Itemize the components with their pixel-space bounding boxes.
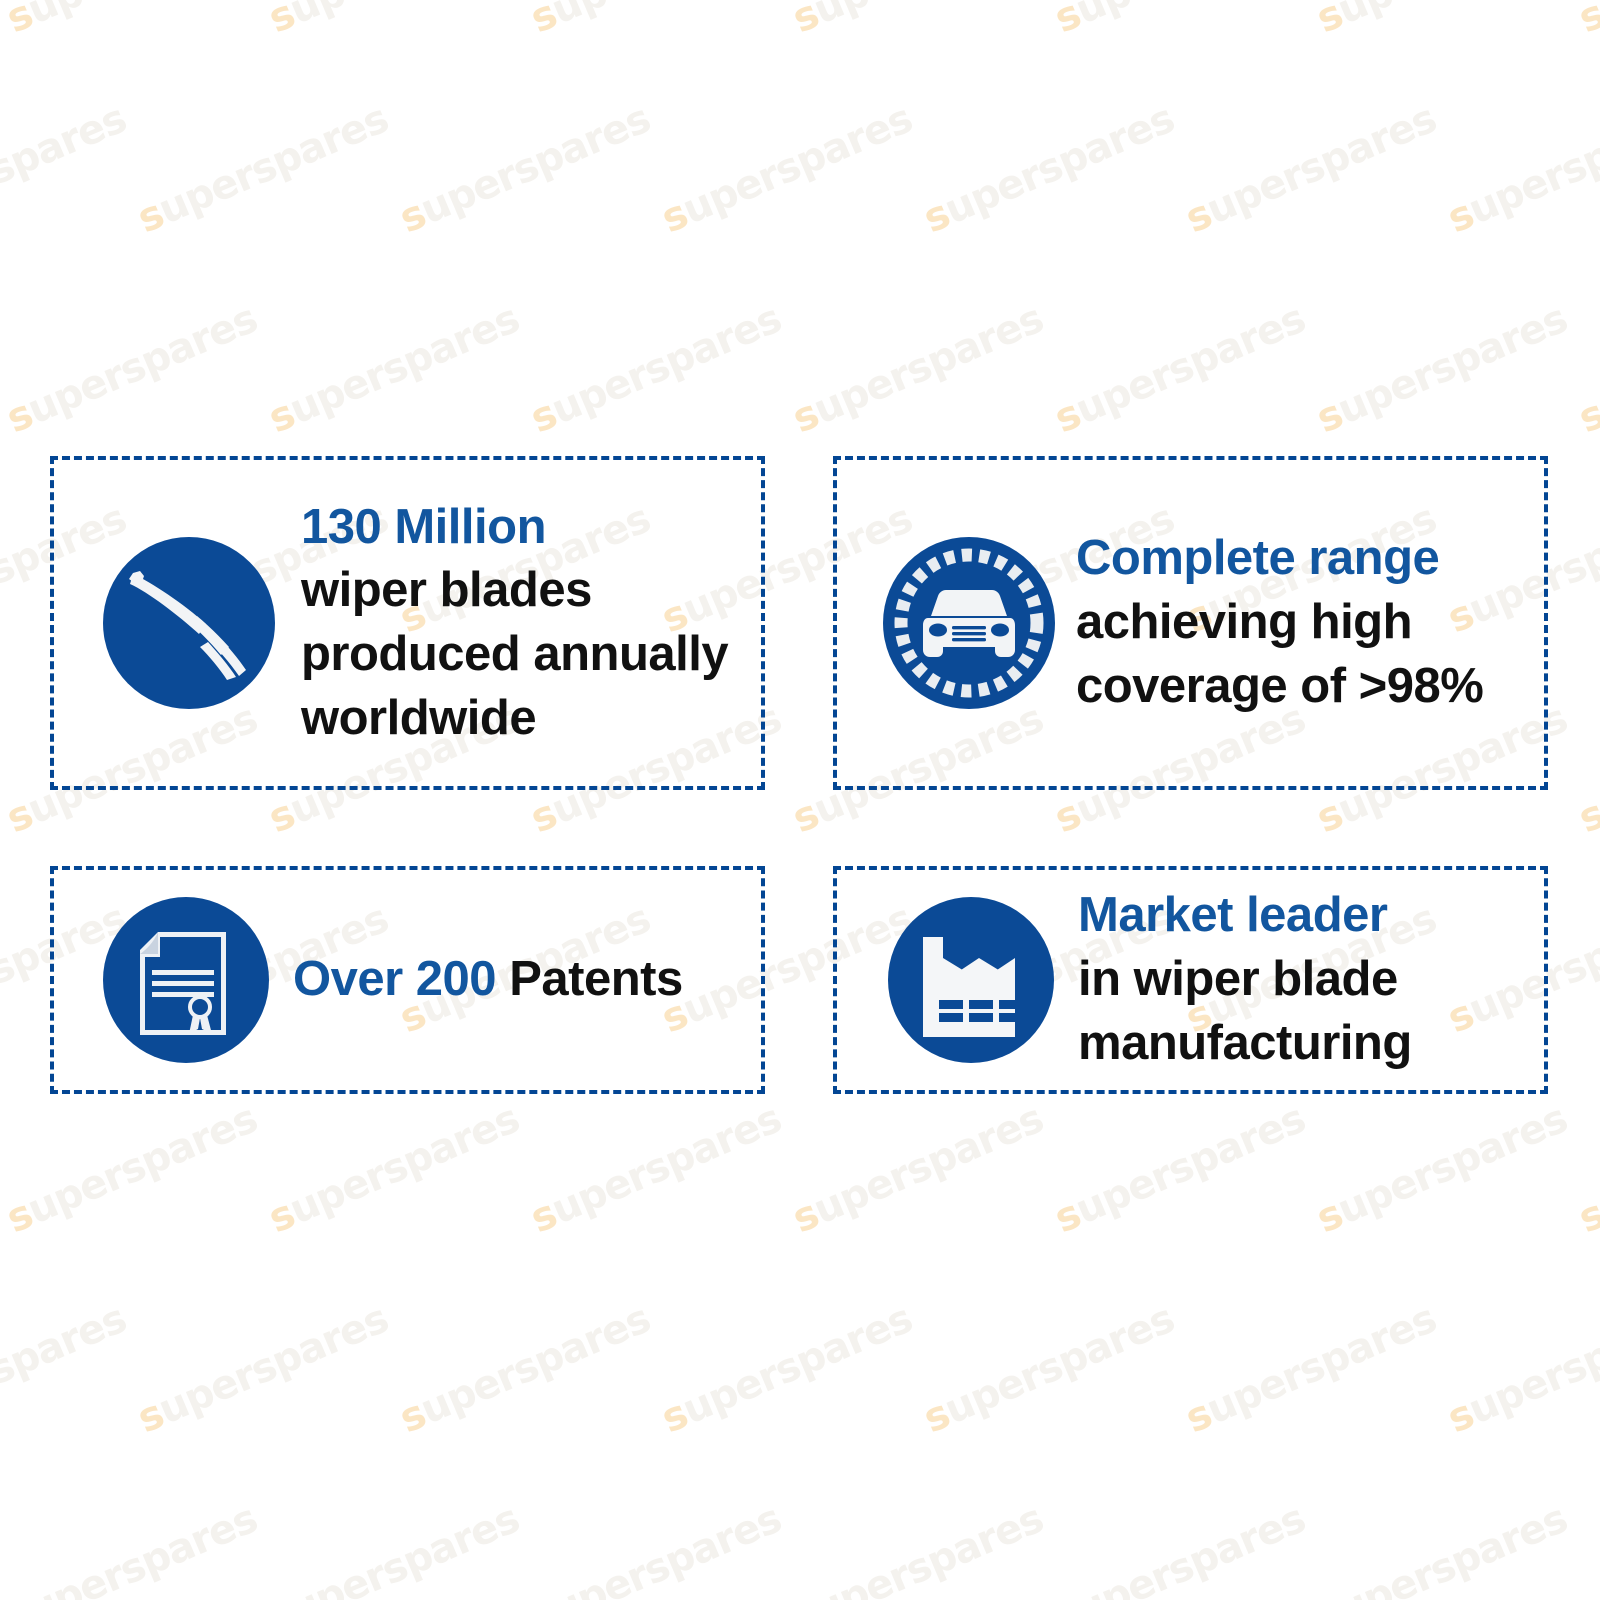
watermark-accent-letter: s [1310, 1191, 1349, 1242]
fact-card-icon-container [837, 890, 1078, 1070]
watermark-body-letters: uperspares [1200, 96, 1443, 234]
watermark-text: superspares [655, 96, 919, 243]
watermark-body-letters: uperspares [1331, 1496, 1574, 1600]
watermark-body-letters: uperspares [414, 96, 657, 234]
fact-card-line-1: in wiper blade [1078, 952, 1398, 1006]
fact-card-complete-range-coverage[interactable]: Complete range achieving high coverage o… [833, 456, 1548, 790]
fact-card-highlight: Over 200 [293, 952, 496, 1006]
watermark-text: superspares [0, 296, 2, 443]
watermark-text: superspares [786, 0, 1050, 42]
watermark-text: superspares [524, 1496, 788, 1600]
watermark-body-letters: uperspares [807, 1496, 1050, 1600]
watermark-text: superspares [524, 0, 788, 42]
watermark-accent-letter: s [131, 1391, 170, 1442]
watermark-body-letters: uperspares [21, 1496, 264, 1600]
fact-card-highlight: Complete range [1076, 531, 1439, 585]
fact-card-line-2: produced annually [301, 627, 728, 681]
watermark-text: superspares [131, 96, 395, 243]
fact-card-patents-count[interactable]: Over 200 Patents [50, 866, 765, 1094]
fact-card-highlight: 130 Million [301, 500, 546, 554]
watermark-accent-letter: s [1179, 191, 1218, 242]
watermark-text: superspares [0, 1096, 2, 1243]
watermark-body-letters: uperspares [1593, 0, 1600, 33]
watermark-accent-letter: s [262, 0, 301, 42]
watermark-text: superspares [1572, 696, 1600, 843]
watermark-accent-letter: s [1572, 391, 1600, 442]
watermark-accent-letter: s [1048, 1591, 1087, 1600]
watermark-accent-letter: s [0, 1191, 39, 1242]
watermark-text: superspares [1441, 96, 1600, 243]
watermark-text: superspares [262, 1096, 526, 1243]
watermark-text: superspares [1048, 1496, 1312, 1600]
watermark-body-letters: uperspares [1593, 296, 1600, 434]
watermark-body-letters: uperspares [1069, 296, 1312, 434]
watermark-accent-letter: s [1179, 1391, 1218, 1442]
watermark-body-letters: uperspares [1069, 1496, 1312, 1600]
watermark-body-letters: uperspares [545, 0, 788, 33]
watermark-accent-letter: s [524, 391, 563, 442]
watermark-accent-letter: s [1048, 391, 1087, 442]
watermark-accent-letter: s [1048, 0, 1087, 42]
watermark-text: superspares [1572, 296, 1600, 443]
watermark-accent-letter: s [524, 1191, 563, 1242]
car-in-tyre-ring-icon [876, 530, 1062, 716]
watermark-text: superspares [1310, 296, 1574, 443]
watermark-text: superspares [786, 1496, 1050, 1600]
watermark-body-letters: uperspares [0, 1496, 2, 1600]
watermark-text: superspares [524, 1096, 788, 1243]
fact-card-icon-container [54, 890, 293, 1070]
watermark-body-letters: uperspares [676, 96, 919, 234]
watermark-body-letters: uperspares [1200, 1296, 1443, 1434]
watermark-accent-letter: s [786, 1591, 825, 1600]
fact-card-grid: 130 Million wiper blades produced annual… [50, 456, 1548, 1094]
watermark-text: superspares [1310, 0, 1574, 42]
watermark-body-letters: uperspares [545, 1096, 788, 1234]
fact-card-market-leader-manufacturing[interactable]: Market leader in wiper blade manufacturi… [833, 866, 1548, 1094]
watermark-accent-letter: s [393, 191, 432, 242]
watermark-body-letters: uperspares [1462, 96, 1600, 234]
watermark-accent-letter: s [1572, 0, 1600, 42]
watermark-body-letters: uperspares [545, 296, 788, 434]
watermark-body-letters: uperspares [152, 96, 395, 234]
watermark-text: superspares [262, 1496, 526, 1600]
watermark-body-letters: uperspares [1069, 0, 1312, 33]
watermark-accent-letter: s [655, 191, 694, 242]
watermark-accent-letter: s [786, 0, 825, 42]
fact-card-line-2: coverage of >98% [1076, 659, 1483, 713]
watermark-accent-letter: s [1048, 1191, 1087, 1242]
watermark-text: superspares [0, 1496, 2, 1600]
watermark-text: superspares [1572, 1096, 1600, 1243]
watermark-text: superspares [524, 296, 788, 443]
watermark-text: superspares [1441, 1296, 1600, 1443]
watermark-accent-letter: s [655, 1391, 694, 1442]
watermark-accent-letter: s [262, 391, 301, 442]
watermark-body-letters: uperspares [0, 696, 2, 834]
factory-icon [881, 890, 1061, 1070]
watermark-accent-letter: s [786, 391, 825, 442]
fact-card-text: Market leader in wiper blade manufacturi… [1078, 884, 1544, 1075]
watermark-body-letters: uperspares [1593, 1096, 1600, 1234]
watermark-text: superspares [1048, 1096, 1312, 1243]
watermark-body-letters: uperspares [1069, 1096, 1312, 1234]
watermark-accent-letter: s [1441, 191, 1480, 242]
fact-card-text: Complete range achieving high coverage o… [1076, 527, 1544, 718]
watermark-text: superspares [0, 0, 2, 42]
watermark-body-letters: uperspares [807, 0, 1050, 33]
fact-card-text: Over 200 Patents [293, 948, 761, 1012]
watermark-accent-letter: s [524, 1591, 563, 1600]
watermark-text: superspares [1048, 0, 1312, 42]
watermark-body-letters: uperspares [0, 1296, 133, 1434]
watermark-body-letters: uperspares [1462, 1296, 1600, 1434]
watermark-body-letters: uperspares [0, 0, 2, 33]
certificate-icon [96, 890, 276, 1070]
watermark-accent-letter: s [1310, 1591, 1349, 1600]
watermark-text: superspares [1572, 0, 1600, 42]
watermark-text: superspares [0, 1496, 264, 1600]
watermark-text: superspares [0, 696, 2, 843]
watermark-body-letters: uperspares [1593, 696, 1600, 834]
watermark-text: superspares [786, 1096, 1050, 1243]
watermark-body-letters: uperspares [545, 1496, 788, 1600]
watermark-body-letters: uperspares [0, 96, 133, 234]
watermark-body-letters: uperspares [1331, 1096, 1574, 1234]
watermark-text: superspares [1310, 1496, 1574, 1600]
watermark-text: superspares [262, 0, 526, 42]
watermark-text: superspares [1310, 1096, 1574, 1243]
watermark-body-letters: uperspares [414, 1296, 657, 1434]
watermark-accent-letter: s [1572, 791, 1600, 842]
watermark-accent-letter: s [262, 1591, 301, 1600]
watermark-text: superspares [917, 1296, 1181, 1443]
watermark-body-letters: uperspares [283, 1096, 526, 1234]
watermark-text: superspares [0, 1296, 133, 1443]
watermark-body-letters: uperspares [676, 1296, 919, 1434]
watermark-text: superspares [0, 96, 133, 243]
watermark-body-letters: uperspares [0, 296, 2, 434]
watermark-accent-letter: s [0, 0, 39, 42]
fact-card-line-1: achieving high [1076, 595, 1412, 649]
fact-card-line-1: Patents [509, 952, 683, 1006]
fact-card-text: 130 Million wiper blades produced annual… [301, 496, 761, 751]
watermark-accent-letter: s [1310, 391, 1349, 442]
watermark-text: superspares [1572, 1496, 1600, 1600]
watermark-accent-letter: s [393, 1391, 432, 1442]
watermark-text: superspares [786, 296, 1050, 443]
fact-card-icon-container [54, 530, 301, 716]
watermark-accent-letter: s [0, 1591, 39, 1600]
fact-card-icon-container [837, 530, 1076, 716]
watermark-body-letters: uperspares [807, 1096, 1050, 1234]
watermark-text: superspares [393, 1296, 657, 1443]
watermark-accent-letter: s [917, 1391, 956, 1442]
watermark-body-letters: uperspares [1331, 296, 1574, 434]
watermark-body-letters: uperspares [938, 1296, 1181, 1434]
watermark-body-letters: uperspares [21, 296, 264, 434]
watermark-accent-letter: s [1572, 1191, 1600, 1242]
fact-card-line-2: manufacturing [1078, 1016, 1412, 1070]
watermark-text: superspares [262, 296, 526, 443]
watermark-body-letters: uperspares [1331, 0, 1574, 33]
watermark-text: superspares [655, 1296, 919, 1443]
fact-card-highlight: Market leader [1078, 888, 1387, 942]
watermark-text: superspares [0, 1096, 264, 1243]
watermark-body-letters: uperspares [283, 1496, 526, 1600]
watermark-body-letters: uperspares [21, 1096, 264, 1234]
watermark-text: superspares [1048, 296, 1312, 443]
watermark-text: superspares [917, 96, 1181, 243]
fact-card-line-3: worldwide [301, 691, 536, 745]
watermark-body-letters: uperspares [0, 1096, 2, 1234]
watermark-text: superspares [393, 96, 657, 243]
watermark-text: superspares [1179, 96, 1443, 243]
watermark-body-letters: uperspares [1593, 1496, 1600, 1600]
watermark-accent-letter: s [262, 1191, 301, 1242]
fact-card-wiper-blades-produced[interactable]: 130 Million wiper blades produced annual… [50, 456, 765, 790]
watermark-body-letters: uperspares [807, 296, 1050, 434]
watermark-accent-letter: s [0, 391, 39, 442]
watermark-body-letters: uperspares [283, 296, 526, 434]
watermark-text: superspares [131, 1296, 395, 1443]
watermark-accent-letter: s [1441, 1391, 1480, 1442]
watermark-accent-letter: s [131, 191, 170, 242]
watermark-accent-letter: s [1572, 1591, 1600, 1600]
fact-card-line-1: wiper blades [301, 563, 592, 617]
watermark-body-letters: uperspares [152, 1296, 395, 1434]
watermark-accent-letter: s [917, 191, 956, 242]
watermark-body-letters: uperspares [938, 96, 1181, 234]
watermark-accent-letter: s [1310, 0, 1349, 42]
watermark-text: superspares [0, 296, 264, 443]
watermark-text: superspares [0, 0, 264, 42]
watermark-text: superspares [1179, 1296, 1443, 1443]
watermark-accent-letter: s [524, 0, 563, 42]
wiper-blade-icon [96, 530, 282, 716]
watermark-accent-letter: s [0, 791, 39, 842]
watermark-accent-letter: s [786, 1191, 825, 1242]
watermark-body-letters: uperspares [283, 0, 526, 33]
watermark-body-letters: uperspares [21, 0, 264, 33]
